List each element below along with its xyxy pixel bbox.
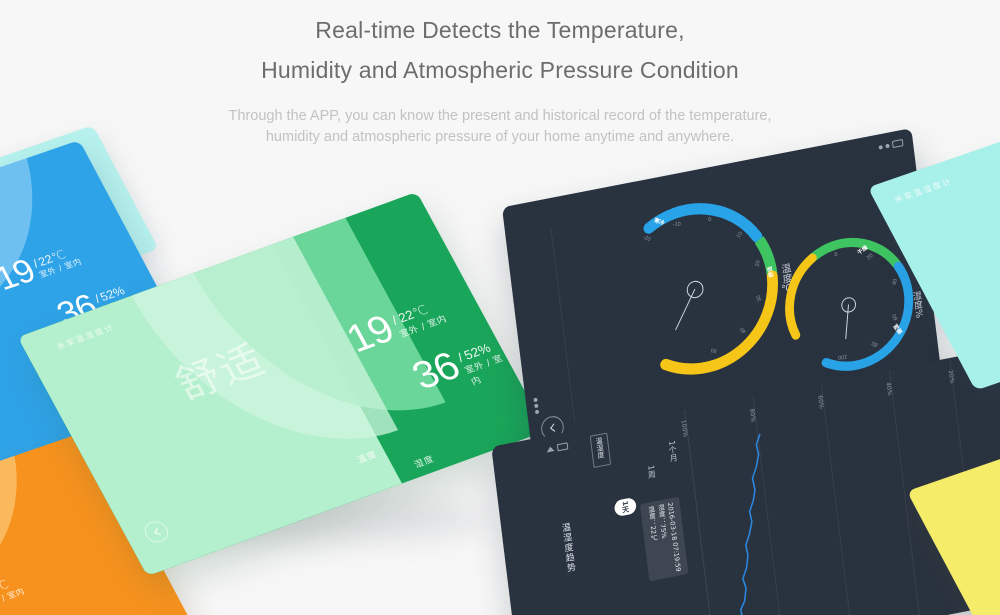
battery-icon	[535, 410, 539, 415]
subheadline-line-1: Through the APP, you can know the presen…	[0, 106, 1000, 127]
reading-group-temperature: 19 / 22℃ 室外 / 室内	[0, 569, 28, 615]
wifi-icon	[885, 143, 889, 148]
wifi-icon	[534, 404, 538, 409]
series-line-humidity	[712, 434, 786, 615]
bottom-label-humidity[interactable]: 湿度	[411, 452, 436, 470]
status-title: 米家温湿度计	[892, 176, 955, 205]
status-bar	[878, 139, 903, 151]
status-bar-secondary	[533, 398, 539, 415]
gauge-humidity-label: 湿度%	[910, 290, 926, 319]
tick-label: 20	[755, 260, 762, 267]
tick-label: 0	[834, 252, 838, 259]
tick-label: 100	[838, 353, 847, 360]
signal-icon	[533, 398, 537, 403]
poster-stage: Real-time Detects the Temperature, Humid…	[0, 0, 1000, 615]
reading-group-humidity: 36 / 52% 室外 / 室内	[0, 604, 90, 615]
signal-icon	[878, 144, 882, 149]
gauge-temperature[interactable]: -20 -10 0 10 20 30 40 50 舒适 寒冷	[599, 184, 792, 394]
divider	[550, 227, 575, 423]
chevron-left-icon	[549, 423, 557, 433]
headline-line-1: Real-time Detects the Temperature,	[0, 10, 1000, 50]
tick-label: -10	[673, 222, 681, 228]
battery-icon	[892, 139, 904, 148]
reading-group-humidity: 36 / 52% 室外 / 室内	[407, 331, 515, 404]
headline-block: Real-time Detects the Temperature, Humid…	[0, 10, 1000, 148]
headline-line-2: Humidity and Atmospheric Pressure Condit…	[0, 50, 1000, 90]
chevron-left-icon	[151, 527, 162, 537]
